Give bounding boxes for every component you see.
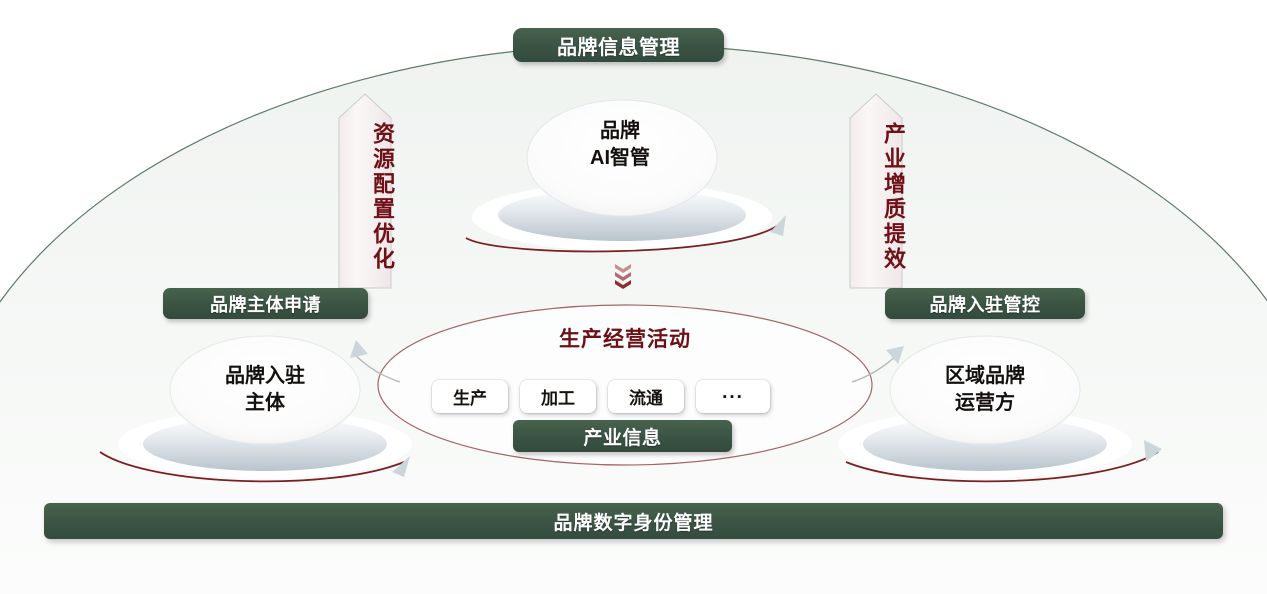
badge-industry-information[interactable]: 产业信息 (513, 420, 732, 452)
pylon-resource-allocation: 资源配置优化 (337, 92, 393, 290)
chevron-stack-icon (612, 261, 634, 291)
diagram-canvas: 资源配置优化 产业增质提效 品牌信息管理 品牌主体申请 品牌入驻管控 产业信息 … (0, 0, 1267, 594)
pylon-industry-upgrade: 产业增质提效 (848, 92, 904, 290)
center-ellipse-title: 生产经营活动 (465, 323, 785, 353)
pylon-right-label: 产业增质提效 (848, 122, 904, 272)
badge-brand-onboarding-control[interactable]: 品牌入驻管控 (885, 288, 1085, 319)
bar-brand-digital-identity-management[interactable]: 品牌数字身份管理 (44, 503, 1223, 539)
activity-chip-circulation[interactable]: 流通 (608, 380, 684, 413)
center-node-label: 品牌 AI智管 (530, 118, 710, 172)
right-node-label: 区域品牌 运营方 (890, 363, 1080, 417)
activity-chip-production[interactable]: 生产 (432, 380, 508, 413)
pylon-left-label: 资源配置优化 (337, 122, 393, 272)
badge-brand-information-management[interactable]: 品牌信息管理 (513, 28, 724, 62)
badge-brand-entity-application[interactable]: 品牌主体申请 (163, 288, 368, 319)
activity-chip-more[interactable]: ... (696, 380, 770, 413)
activity-chip-list: 生产 加工 流通 ... (432, 378, 822, 414)
activity-chip-processing[interactable]: 加工 (520, 380, 596, 413)
left-node-label: 品牌入驻 主体 (170, 363, 360, 417)
